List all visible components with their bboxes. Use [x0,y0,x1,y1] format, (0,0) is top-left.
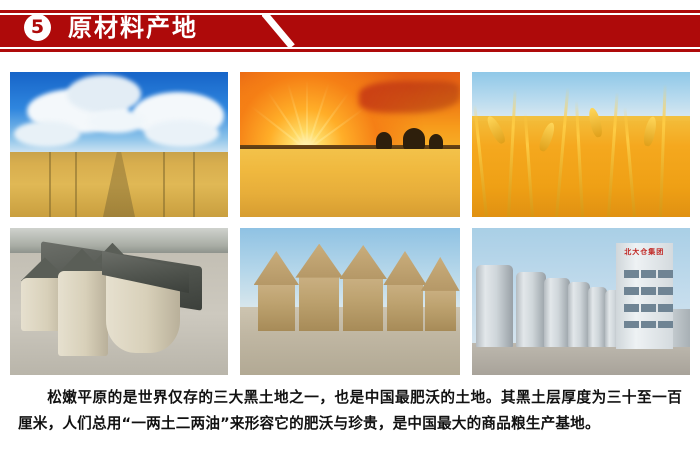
straw-stack [387,281,422,331]
tower-window [624,321,639,328]
tower-window [658,287,673,294]
cloud-shape [67,75,141,113]
field-furrow [163,152,165,217]
tower-window [624,287,639,294]
straw-stack [425,287,456,331]
sky-layer [472,72,690,121]
tower-window [624,304,639,311]
field-furrow [75,152,77,217]
section-title: 原材料产地 [68,13,198,43]
straw-stack [343,275,383,331]
field-furrow [49,152,51,217]
photo-gallery-grid: 北大仓集团 [10,72,690,375]
factory-tower: 北大仓集团 [616,243,673,349]
field-furrow [193,152,195,217]
section-caption: 松嫩平原的是世界仅存的三大黑土地之一，也是中国最肥沃的土地。其黑土层厚度为三十至… [18,385,682,437]
dark-cloud-shape [359,81,460,113]
silo-body [58,271,108,356]
steel-tank [516,272,547,347]
tower-window [658,270,673,277]
wheat-ground-layer [240,149,460,217]
factory-sign-text: 北大仓集团 [619,248,669,260]
sun-ray [306,80,308,150]
photo-golden-wheat-ears [472,72,690,217]
straw-stack [258,281,295,331]
tower-window [641,304,656,311]
tower-window [624,270,639,277]
photo-granary-buildings [10,228,228,375]
tree-silhouette [403,128,425,150]
tower-window [658,321,673,328]
steel-tank [568,282,590,347]
photo-wheat-field-blue-sky [10,72,228,217]
tower-window [641,287,656,294]
photo-steel-tanks-factory: 北大仓集团 [472,228,690,375]
steel-tank [476,265,513,347]
photo-sunrise-wheat-field [240,72,460,217]
tower-window [641,270,656,277]
banner-bottom-rule [0,49,700,52]
tree-silhouette [376,132,392,150]
straw-stack [299,274,339,331]
tower-window [658,304,673,311]
steel-tank [544,278,570,347]
low-building [670,309,690,347]
photo-straw-stacks [240,228,460,375]
section-number-badge: 5 [24,14,51,41]
cloud-shape [88,110,145,133]
tower-window [641,321,656,328]
